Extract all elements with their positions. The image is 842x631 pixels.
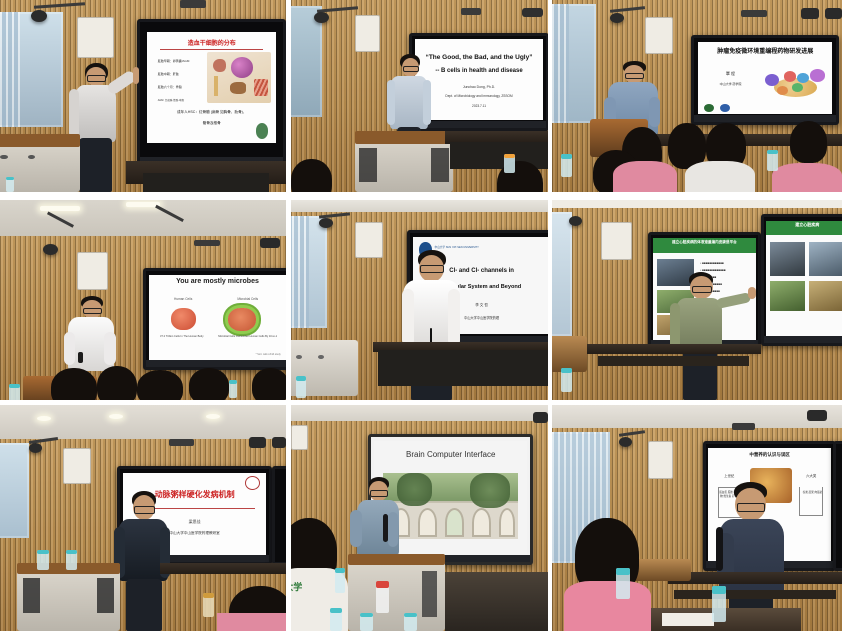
glasses-icon — [87, 75, 105, 82]
screen-bezel — [764, 336, 842, 343]
curtain — [0, 12, 20, 127]
audience-head — [252, 368, 286, 400]
slide-bullet-2: 胚胎中期：肝脏 — [158, 72, 179, 76]
paper-sheet — [662, 613, 714, 627]
ceiling-spotlight — [249, 437, 266, 448]
lecture-room-scene: 中营养的认识与误区 上世纪 六大类 蛋白质 脂肪 碳水化合物 维生素 矿物质 水… — [552, 405, 842, 631]
speaker-legs — [79, 138, 112, 192]
bottle-cap — [9, 384, 20, 388]
glasses-icon — [692, 286, 713, 293]
slide-affiliation: 中山大学 药学院 — [698, 82, 762, 86]
slide-photo-2 — [809, 242, 842, 277]
ceiling-spotlight — [533, 412, 548, 423]
lecture-room-scene: 动脉粥样硬化发病机制 梁思佳 中山大学中山医学院药理教研室 — [0, 405, 286, 631]
slide-logo-secondary — [720, 104, 731, 113]
equipment-table — [160, 563, 286, 574]
bottle-cap — [376, 581, 389, 588]
slide-content: 造血干细胞的分布 胚胎早期：卵黄囊/AGM 胚胎中期：肝脏 胚胎六个月：骨髓 A… — [147, 32, 276, 143]
glasses-icon — [83, 308, 102, 314]
ceiling-light — [522, 8, 543, 18]
glasses-icon — [370, 490, 388, 496]
wall-speaker — [77, 17, 113, 57]
lectern — [17, 563, 120, 631]
bottle-cap — [360, 613, 373, 617]
water-bottle — [767, 150, 779, 171]
window — [552, 212, 572, 336]
slide-bullet-3: 胚胎六个月：骨髓 — [158, 85, 182, 89]
dome-camera-icon — [31, 10, 47, 22]
slide-title: Brain Computer Interface — [374, 450, 527, 459]
collage-photo-9[interactable]: 中营养的认识与误区 上世纪 六大类 蛋白质 脂肪 碳水化合物 维生素 矿物质 水… — [552, 405, 842, 631]
curtain — [291, 216, 309, 328]
audience-head — [291, 159, 332, 192]
dome-camera-icon — [43, 244, 58, 255]
photo-collage: 造血干细胞的分布 胚胎早期：卵黄囊/AGM 胚胎中期：肝脏 胚胎六个月：骨髓 A… — [0, 0, 842, 631]
collage-photo-6[interactable]: 建立心脏疾病的体液速重编内皮康退平台 • ■■■■■■■■■■■■ • ■■■■… — [552, 200, 842, 400]
display-screen-secondary — [833, 441, 842, 571]
speaker-right-arm — [104, 332, 115, 365]
slide-footnote: * Sort. wiki ref/nih study — [218, 353, 281, 356]
water-bottle — [360, 613, 373, 631]
slide-bullet-1: 胚胎早期：卵黄囊/AGM — [158, 59, 190, 63]
bottle-cap — [561, 154, 573, 159]
water-bottle — [712, 586, 727, 622]
bottle-cap — [37, 550, 48, 554]
projector — [732, 423, 755, 430]
dome-camera-icon — [314, 12, 329, 23]
slide-title: 造血干细胞的分布 — [147, 38, 276, 47]
speaker-left-arm — [387, 80, 395, 125]
slide-left-label: 上世纪 — [713, 473, 745, 478]
slide-footer-line1: 成年人HSC：红骨髓 (扁骨 如胸骨、肋骨)、 — [147, 110, 276, 115]
water-bottle — [504, 154, 514, 173]
speaker-torso — [390, 76, 427, 129]
window — [0, 443, 29, 538]
wall-speaker — [355, 15, 380, 52]
slide-illustration — [207, 52, 271, 103]
lecture-room-scene: 造血干细胞的分布 胚胎早期：卵黄囊/AGM 胚胎中期：肝脏 胚胎六个月：骨髓 A… — [0, 0, 286, 192]
under-table-cabinet — [378, 350, 548, 386]
water-bottle — [335, 568, 345, 593]
bottle-cap — [616, 568, 631, 575]
slide-col2-caption: Microbial Cells Outnumber Human Cells By… — [217, 335, 277, 338]
speaker-left-arm — [64, 332, 75, 365]
bottle-cap — [767, 150, 779, 155]
under-table-shelf — [674, 590, 836, 599]
audience-head — [97, 366, 137, 400]
speaker-hand — [748, 287, 756, 299]
glasses-icon — [134, 506, 155, 514]
bottle-cap — [6, 177, 15, 180]
bottle-cap — [203, 593, 214, 598]
lecture-room-scene: 中山大学 SUN YAT-SEN UNIVERSITY Cl- and Cl- … — [291, 200, 548, 400]
speaker-right-arm — [649, 97, 660, 127]
slide-col2-header: Microbial Cells — [217, 297, 277, 301]
speaker-gesture-arm — [350, 510, 361, 547]
collage-photo-1[interactable]: 造血干细胞的分布 胚胎早期：卵黄囊/AGM 胚胎中期：肝脏 胚胎六个月：骨髓 A… — [0, 0, 286, 192]
water-bottle — [229, 380, 238, 398]
lectern — [355, 131, 453, 192]
microbial-cells-graphic — [228, 308, 255, 331]
slide-photo-3 — [770, 281, 805, 311]
under-table-cabinet — [143, 173, 269, 192]
audience-head — [790, 121, 828, 163]
water-bottle — [330, 608, 343, 631]
projector — [180, 0, 206, 8]
speaker-figure — [114, 491, 177, 631]
wall-speaker — [63, 448, 91, 484]
ceiling-light — [40, 206, 80, 211]
university-logo-text: 中山大学 SUN YAT-SEN UNIVERSITY — [435, 245, 479, 249]
lectern-top — [355, 131, 453, 145]
glasses-icon — [420, 265, 443, 273]
projector — [741, 10, 767, 18]
collage-photo-2[interactable]: “The Good, the Bad, and the Ugly” -- B c… — [291, 0, 548, 192]
glasses-icon — [625, 73, 644, 79]
slide-content: You are mostly microbes Human Cells Micr… — [149, 275, 286, 361]
lecture-room-scene: 肿瘤免疫微环境重编程药物研发进展 覃 程 中山大学 药学院 — [552, 0, 842, 192]
projector — [194, 240, 220, 246]
audience-body — [685, 161, 755, 192]
slide-title: 肿瘤免疫微环境重编程药物研发进展 — [698, 46, 832, 55]
speaker-right-arm — [423, 80, 431, 125]
water-bottle — [203, 593, 214, 618]
water-bottle — [9, 384, 20, 400]
water-bottle — [37, 550, 48, 570]
ceiling-spotlight — [272, 437, 286, 448]
wall-speaker — [291, 425, 308, 450]
display-screen-secondary — [272, 466, 286, 565]
water-bottle — [616, 568, 631, 600]
bottle-cap — [296, 376, 306, 381]
desk — [445, 572, 548, 631]
slide-right-items: 谷类 蔬果 肉蛋奶 — [799, 491, 826, 495]
glasses-icon — [403, 66, 419, 72]
lectern-top — [348, 554, 446, 565]
slide-title: 中营养的认识与误区 — [708, 452, 830, 458]
slide-content: 建立心脏疾病 — [766, 221, 842, 337]
display-screen: 造血干细胞的分布 胚胎早期：卵黄囊/AGM 胚胎中期：肝脏 胚胎六个月：骨髓 A… — [137, 19, 286, 167]
ceiling-spotlight — [825, 8, 842, 20]
bottle-cap — [561, 368, 573, 373]
slide-crest — [245, 476, 260, 490]
slide-logo — [704, 104, 715, 113]
speaker-hand — [133, 67, 140, 84]
audience-head — [189, 368, 229, 400]
curtain — [552, 4, 569, 123]
display-screen: You are mostly microbes Human Cells Micr… — [143, 268, 286, 370]
ceiling-spotlight — [801, 8, 818, 20]
speaker-left-arm — [402, 289, 414, 346]
water-bottle — [404, 613, 417, 631]
glasses-icon — [737, 503, 765, 512]
side-console — [552, 336, 587, 372]
slide-col1-caption: 37.2 Trillion Cells In The Human Body — [154, 335, 209, 338]
display-screen-right: 建立心脏疾病 — [761, 214, 842, 346]
wall-speaker — [355, 222, 383, 258]
water-bottle — [296, 376, 306, 398]
bottle-cap — [504, 154, 514, 158]
collage-photo-8[interactable]: Brain Computer Interface — [291, 405, 548, 631]
water-bottle — [561, 368, 573, 392]
human-cells-graphic — [171, 308, 196, 330]
microphone-icon — [716, 527, 724, 572]
speaker-left-arm — [69, 89, 79, 138]
audience-head — [137, 370, 183, 400]
slide-photo-1 — [770, 242, 805, 277]
slide-right-label: 六大类 — [794, 473, 828, 478]
collage-photo-3[interactable]: 肿瘤免疫微环境重编程药物研发进展 覃 程 中山大学 药学院 — [552, 0, 842, 192]
screen-bezel — [146, 360, 286, 367]
ceiling-spotlight — [260, 238, 280, 248]
jacket-text: 大学 — [291, 580, 302, 593]
water-bottle — [561, 154, 573, 177]
wall-speaker — [648, 441, 673, 479]
lecture-room-scene: Brain Computer Interface — [291, 405, 548, 631]
audience-head — [51, 368, 97, 400]
bottle-cap — [335, 568, 345, 573]
water-bottle — [376, 581, 389, 613]
speaker-left-arm — [670, 303, 681, 349]
microphone-icon — [383, 514, 388, 542]
bottle-cap — [404, 613, 417, 617]
slide-col1-header: Human Cells — [157, 297, 209, 301]
bottle-cap — [66, 550, 77, 554]
ceiling — [552, 405, 842, 430]
slide-presenter: 覃 程 — [698, 71, 762, 77]
audience-shirt — [564, 581, 651, 631]
collage-photo-5[interactable]: 中山大学 SUN YAT-SEN UNIVERSITY Cl- and Cl- … — [291, 200, 548, 400]
slide-photo-4 — [809, 281, 842, 311]
projector — [461, 8, 482, 16]
window — [291, 6, 322, 117]
audience-body — [772, 163, 842, 192]
wall-speaker — [645, 17, 673, 54]
collage-photo-7[interactable]: 动脉粥样硬化发病机制 梁思佳 中山大学中山医学院药理教研室 — [0, 405, 286, 631]
lecture-room-scene: “The Good, the Bad, and the Ugly” -- B c… — [291, 0, 548, 192]
slide-title: 建立心脏疾病的体液速重编内皮康退平台 — [653, 240, 756, 245]
speaker-figure — [668, 272, 749, 400]
lecture-room-scene: 建立心脏疾病的体液速重编内皮康退平台 • ■■■■■■■■■■■■ • ■■■■… — [552, 200, 842, 400]
ceiling — [0, 405, 286, 441]
equipment-table — [587, 344, 761, 354]
ceiling-spotlight — [807, 410, 827, 421]
remote-control — [78, 352, 83, 364]
dome-camera-icon — [619, 437, 632, 447]
slide-logo — [256, 123, 269, 139]
equipment-table — [668, 572, 842, 583]
slide-graphic — [760, 62, 829, 103]
audience-body — [613, 161, 677, 192]
collage-photo-4[interactable]: You are mostly microbes Human Cells Micr… — [0, 200, 286, 400]
display-screen: 肿瘤免疫微环境重编程药物研发进展 覃 程 中山大学 药学院 — [691, 35, 839, 125]
lecture-room-scene: You are mostly microbes Human Cells Micr… — [0, 200, 286, 400]
under-table-shelf — [598, 356, 749, 366]
speaker-right-arm — [448, 289, 460, 346]
lectern-top — [0, 134, 80, 147]
bottle-cap — [712, 586, 727, 594]
bottle-cap — [330, 608, 343, 613]
slide-content: 肿瘤免疫微环境重编程药物研发进展 覃 程 中山大学 药学院 — [698, 42, 832, 115]
title-underline — [160, 49, 263, 50]
ceiling-downlight — [109, 414, 123, 419]
wall-speaker — [601, 222, 632, 260]
water-bottle — [6, 177, 15, 192]
screen-bezel — [694, 115, 836, 122]
slide-title: 建立心脏疾病 — [766, 222, 842, 228]
bottle-cap — [229, 380, 238, 384]
water-bottle — [66, 550, 77, 570]
slide-note: AGM: 主动脉-性腺-中肾 — [158, 99, 184, 102]
speaker-mic-arm — [388, 512, 398, 547]
speaker-torso — [75, 85, 117, 142]
speaker-legs — [126, 579, 162, 631]
slide-title: You are mostly microbes — [149, 278, 286, 285]
wall-speaker — [77, 252, 108, 290]
audience-body — [217, 613, 286, 631]
speaker-extended-arm — [716, 292, 751, 309]
projector — [169, 439, 195, 446]
